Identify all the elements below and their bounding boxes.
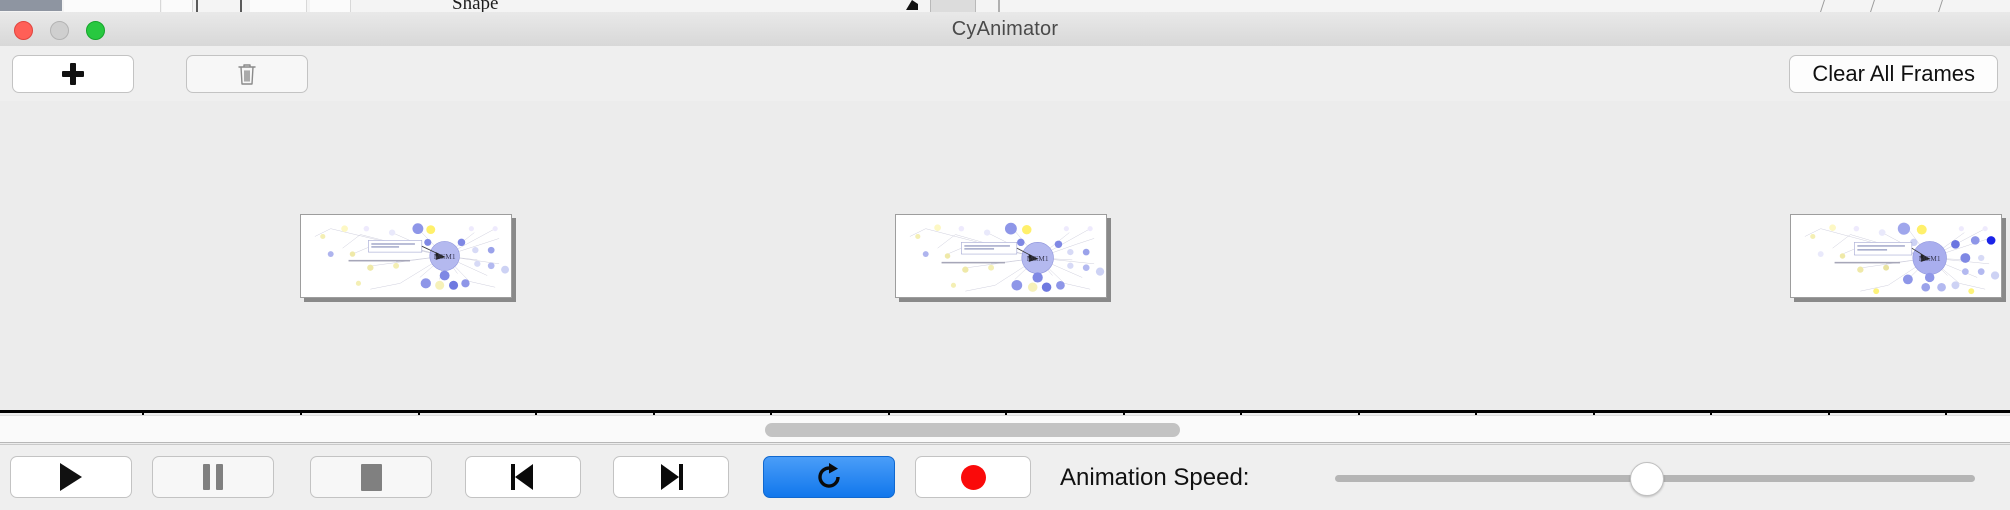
background-divider	[196, 0, 198, 12]
background-tab	[64, 0, 161, 12]
window-title: CyAnimator	[0, 12, 2010, 46]
toolbar: Clear All Frames	[0, 46, 2010, 102]
skip-backward-icon	[511, 464, 535, 490]
clear-all-frames-button[interactable]: Clear All Frames	[1789, 55, 1998, 93]
title-bar: CyAnimator	[0, 12, 2010, 47]
cyanimator-window: Shape CyAnimator Clear All Frames	[0, 0, 2010, 510]
record-button[interactable]	[915, 456, 1031, 498]
background-divider	[998, 0, 1000, 12]
background-divider	[1870, 0, 1875, 12]
loop-button[interactable]	[763, 456, 895, 498]
skip-forward-icon	[659, 464, 683, 490]
network-thumbnail-image: MCM1	[301, 215, 511, 297]
record-icon	[961, 465, 986, 490]
add-frame-button[interactable]	[12, 55, 134, 93]
plus-icon	[62, 63, 84, 85]
background-divider	[1938, 0, 1943, 12]
background-tab	[250, 0, 307, 12]
pause-icon	[203, 464, 223, 490]
skip-to-start-button[interactable]	[465, 456, 581, 498]
scrollbar-thumb[interactable]	[765, 423, 1180, 437]
stop-icon	[361, 464, 382, 491]
svg-text:MCM1: MCM1	[1027, 254, 1049, 263]
background-divider	[1820, 0, 1825, 12]
background-divider	[240, 0, 242, 12]
frame-thumbnail[interactable]: MCM1	[300, 214, 512, 298]
timeline-horizontal-scrollbar[interactable]	[0, 415, 2010, 443]
network-thumbnail-image: MCM1	[896, 215, 1106, 297]
svg-text:MCM1: MCM1	[434, 252, 456, 261]
frame-thumbnail[interactable]: MCM1	[895, 214, 1107, 298]
timeline-panel[interactable]: MCM1	[0, 101, 2010, 415]
loop-icon	[814, 462, 844, 492]
background-widget	[930, 0, 976, 12]
skip-to-end-button[interactable]	[613, 456, 729, 498]
play-button[interactable]	[10, 456, 132, 498]
animation-speed-label: Animation Speed:	[1060, 445, 1249, 510]
background-window-titlebar-chip	[0, 0, 62, 11]
stop-button[interactable]	[310, 456, 432, 498]
animation-speed-slider-thumb[interactable]	[1630, 462, 1664, 496]
background-tab	[162, 0, 193, 12]
pause-button[interactable]	[152, 456, 274, 498]
background-tab	[310, 0, 351, 12]
trash-icon	[237, 62, 257, 86]
playback-control-bar: Animation Speed:	[0, 444, 2010, 510]
delete-frame-button[interactable]	[186, 55, 308, 93]
network-thumbnail-image: MCM1	[1791, 215, 2001, 297]
play-icon	[60, 463, 82, 491]
svg-text:MCM1: MCM1	[1919, 254, 1941, 263]
frame-thumbnail[interactable]: MCM1	[1790, 214, 2002, 298]
background-cursor-glyph	[906, 0, 918, 10]
